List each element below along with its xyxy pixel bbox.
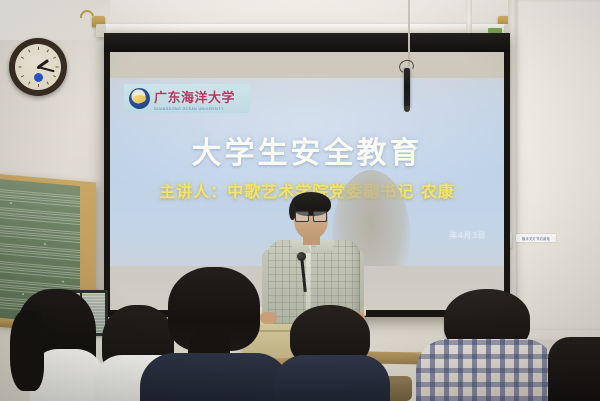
student-plaid-shirt bbox=[416, 339, 556, 401]
lecture-hall-photo: 消防器材箱 随手关灯节约用电 广东海洋大学 GUANGDONG OCEAN UN… bbox=[0, 0, 600, 401]
clock-tick bbox=[18, 67, 21, 68]
list-item bbox=[272, 305, 392, 401]
clock-tick bbox=[38, 47, 39, 50]
student-hair-strand bbox=[10, 311, 44, 391]
clock-tick bbox=[55, 67, 58, 68]
clock-tick bbox=[28, 81, 30, 84]
clock-brand-dot bbox=[34, 73, 43, 82]
clock-tick bbox=[46, 49, 48, 52]
slide-title: 大学生安全教育 bbox=[110, 128, 504, 172]
slide-date: 年4月3日 bbox=[449, 230, 486, 241]
staff-lines bbox=[0, 206, 80, 225]
student-dark-silhouette bbox=[548, 337, 600, 401]
clock-center-pin bbox=[37, 66, 40, 69]
clock-tick bbox=[52, 75, 55, 77]
clock-tick bbox=[38, 84, 39, 87]
university-emblem-icon bbox=[129, 88, 150, 109]
list-item bbox=[416, 289, 556, 401]
microphone-cable bbox=[408, 0, 410, 66]
desk-microphone-head-icon bbox=[297, 252, 306, 261]
screen-housing-bar bbox=[104, 33, 510, 52]
student-navy-top bbox=[274, 355, 390, 401]
chalk-speck bbox=[10, 202, 12, 204]
clock-tick bbox=[52, 57, 55, 59]
staff-lines bbox=[0, 188, 80, 207]
clock-tick bbox=[20, 57, 23, 59]
hanging-microphone-icon bbox=[404, 68, 410, 108]
list-item bbox=[140, 267, 290, 401]
clock-tick bbox=[46, 81, 48, 84]
staff-lines bbox=[0, 242, 80, 261]
clock-tick bbox=[20, 75, 23, 77]
student-navy-top bbox=[140, 353, 290, 401]
wall-clock bbox=[9, 38, 67, 96]
university-name-en: GUANGDONG OCEAN UNIVERSITY bbox=[154, 107, 224, 111]
list-item bbox=[548, 329, 600, 401]
staff-lines bbox=[0, 260, 80, 279]
chalk-speck bbox=[44, 243, 46, 245]
switch-notice-sign: 随手关灯节约用电 bbox=[516, 234, 556, 242]
microphone-tip bbox=[404, 106, 410, 112]
staff-lines bbox=[0, 224, 80, 243]
clock-minute-hand bbox=[38, 66, 55, 72]
eyeglasses-icon bbox=[295, 211, 327, 220]
clock-face bbox=[15, 44, 61, 90]
university-name-cn: 广东海洋大学 bbox=[154, 92, 235, 105]
classroom-door bbox=[516, 0, 600, 330]
university-logo-banner: 广东海洋大学 GUANGDONG OCEAN UNIVERSITY bbox=[124, 84, 250, 113]
clock-tick bbox=[28, 49, 30, 52]
